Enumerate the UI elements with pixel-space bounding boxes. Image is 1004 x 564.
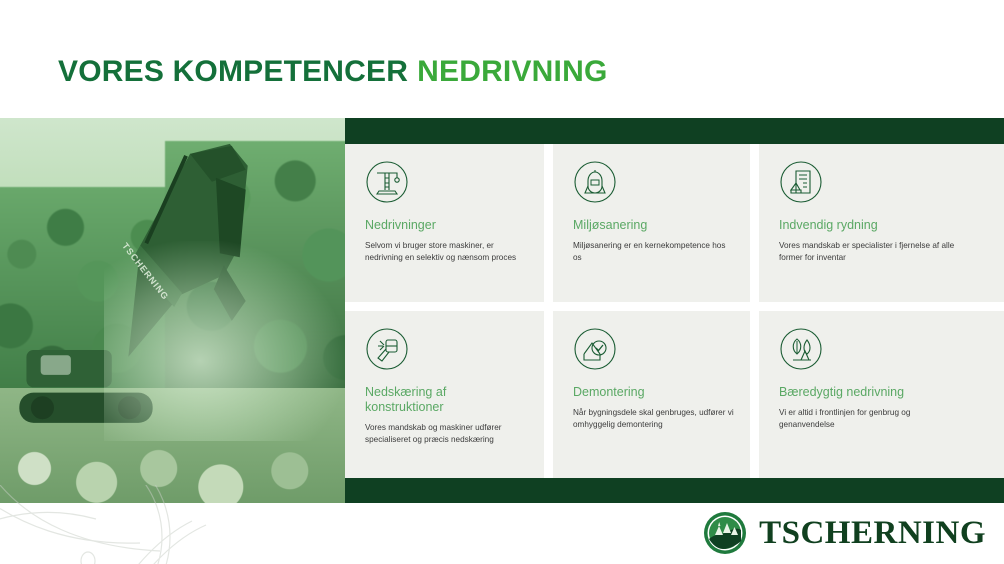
tscherning-outline-watermark (0, 485, 280, 564)
content-band: TSCHERNING (0, 118, 1004, 503)
page-title-main: VORES KOMPETENCER (58, 55, 408, 88)
wrench-recycle-icon (573, 327, 617, 371)
tscherning-circle-logo-icon (703, 511, 747, 555)
panel-bottom-bar (345, 478, 1004, 503)
crane-icon (365, 160, 409, 204)
card-miljoesanering[interactable]: Miljøsanering Miljøsanering er en kernek… (553, 144, 750, 302)
card-baeredygtig-nedrivning[interactable]: Bæredygtig nedrivning Vi er altid i fron… (759, 311, 1004, 478)
tscherning-logo: TSCHERNING (703, 511, 986, 555)
card-indvendig-rydning[interactable]: Indvendig rydning Vores mandskab er spec… (759, 144, 1004, 302)
card-body: Vores mandskab er specialister i fjernel… (779, 240, 961, 264)
page-title-accent: NEDRIVNING (417, 55, 607, 88)
hazmat-worker-icon (573, 160, 617, 204)
slide-root: VORES KOMPETENCERNEDRIVNING (0, 0, 1004, 564)
card-body: Når bygningsdele skal genbruges, udfører… (573, 407, 734, 431)
inventory-document-icon (779, 160, 823, 204)
logo-wordmark: TSCHERNING (759, 515, 986, 552)
panel-top-bar (345, 118, 1004, 144)
card-title: Bæredygtig nedrivning (779, 385, 988, 400)
card-body: Selvom vi bruger store maskiner, er nedr… (365, 240, 528, 264)
card-title: Demontering (573, 385, 734, 400)
card-body: Vores mandskab og maskiner udfører speci… (365, 422, 528, 446)
card-body: Miljøsanering er en kernekompetence hos … (573, 240, 734, 264)
card-title: Miljøsanering (573, 218, 734, 233)
card-nedrivninger[interactable]: Nedrivninger Selvom vi bruger store mask… (345, 144, 544, 302)
leaf-sprout-icon (779, 327, 823, 371)
card-body: Vi er altid i frontlinjen for genbrug og… (779, 407, 961, 431)
cards-panel: Nedrivninger Selvom vi bruger store mask… (345, 118, 1004, 503)
card-title: Indvendig rydning (779, 218, 988, 233)
page-title: VORES KOMPETENCERNEDRIVNING (58, 55, 607, 89)
cards-grid: Nedrivninger Selvom vi bruger store mask… (345, 144, 1004, 478)
footer: TSCHERNING (0, 503, 1004, 564)
card-title: Nedrivninger (365, 218, 528, 233)
excavator-photo: TSCHERNING (0, 118, 345, 503)
card-title: Nedskæring af konstruktioner (365, 385, 528, 415)
cutting-tool-icon (365, 327, 409, 371)
card-demontering[interactable]: Demontering Når bygningsdele skal genbru… (553, 311, 750, 478)
card-nedskaering-af-konstruktioner[interactable]: Nedskæring af konstruktioner Vores mands… (345, 311, 544, 478)
